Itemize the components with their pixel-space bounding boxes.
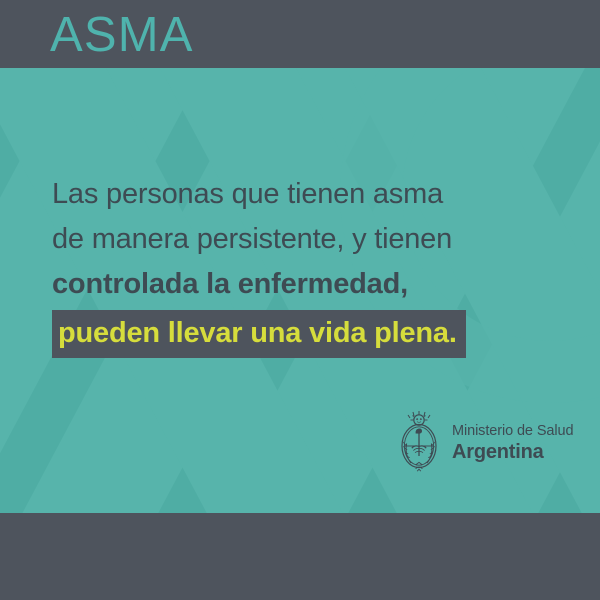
- ministry-name: Ministerio de Salud: [452, 424, 573, 439]
- ministry-logo: Ministerio de Salud Argentina: [395, 410, 573, 476]
- asma-health-poster: ASMA Las personas que tienen asma de man…: [0, 0, 600, 600]
- country-name: Argentina: [452, 442, 573, 462]
- message-line-4-wrapper: pueden llevar una vida plena.: [52, 310, 522, 358]
- ministry-wordmark: Ministerio de Salud Argentina: [452, 424, 573, 462]
- message-line-4-highlighted: pueden llevar una vida plena.: [52, 310, 466, 358]
- message-line-1: Las personas que tienen asma: [52, 172, 522, 217]
- message-block: Las personas que tienen asma de manera p…: [52, 172, 522, 358]
- argentina-coat-of-arms-icon: [395, 410, 443, 476]
- header-band: ASMA: [0, 0, 600, 68]
- page-title: ASMA: [50, 11, 194, 60]
- message-line-3: controlada la enfermedad,: [52, 262, 522, 307]
- message-line-2: de manera persistente, y tienen: [52, 217, 522, 262]
- footer-band: [0, 513, 600, 600]
